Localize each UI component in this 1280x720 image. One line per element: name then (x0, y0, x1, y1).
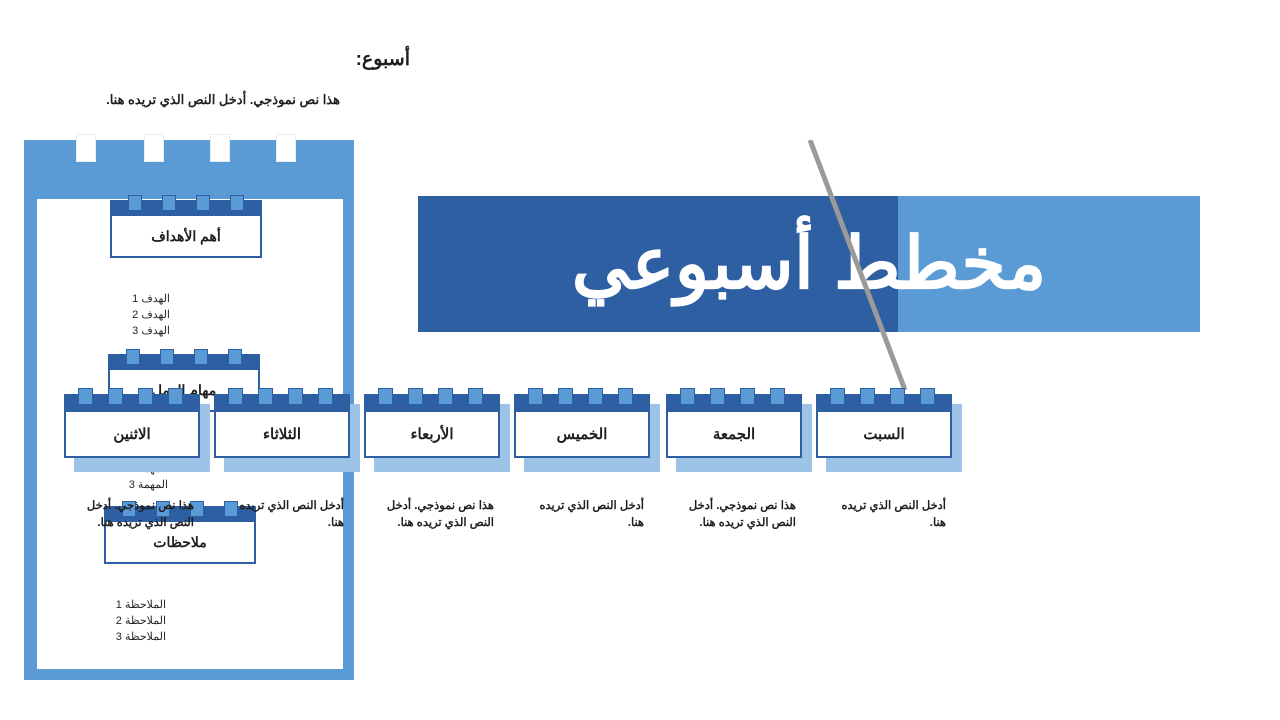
goals-list: الهدف 1 الهدف 2 الهدف 3 (60, 292, 170, 340)
ring-tab-icon (168, 388, 183, 405)
day-text-friday: هذا نص نموذجي. أدخل النص الذي تريده هنا. (676, 498, 796, 533)
list-item: الملاحظة 2 (50, 614, 166, 630)
ring-tab-icon (408, 388, 423, 405)
day-card-monday[interactable]: الاثنين (64, 394, 200, 458)
ring-tab-icon (710, 388, 725, 405)
ring-tab-icon (230, 195, 244, 211)
ring-tab-icon (196, 195, 210, 211)
week-label: أسبوع: (150, 48, 410, 71)
section-title: أهم الأهداف (110, 216, 262, 258)
ring-tab-icon (288, 388, 303, 405)
day-card-wednesday[interactable]: الأربعاء (364, 394, 500, 458)
list-item: الهدف 2 (60, 308, 170, 324)
day-text-saturday: أدخل النص الذي تريده هنا. (826, 498, 946, 533)
ring-tab-icon (890, 388, 905, 405)
notepad-ring (144, 134, 164, 162)
card-binding (64, 394, 200, 412)
ring-tab-icon (128, 195, 142, 211)
ring-tab-icon (228, 349, 242, 365)
card-binding (364, 394, 500, 412)
ring-tab-icon (108, 388, 123, 405)
ring-tab-icon (228, 388, 243, 405)
ring-tab-icon (160, 349, 174, 365)
card-binding (514, 394, 650, 412)
card-binding (816, 394, 952, 412)
card-binding (108, 354, 260, 370)
ring-tab-icon (770, 388, 785, 405)
ring-tab-icon (618, 388, 633, 405)
page-title: مخطط أسبوعي (418, 196, 1200, 332)
day-text-thursday: أدخل النص الذي تريده هنا. (524, 498, 644, 533)
day-name: الجمعة (666, 412, 802, 458)
list-item: الهدف 3 (60, 324, 170, 340)
day-card-tuesday[interactable]: الثلاثاء (214, 394, 350, 458)
ring-tab-icon (162, 195, 176, 211)
ring-tab-icon (830, 388, 845, 405)
day-card-thursday[interactable]: الخميس (514, 394, 650, 458)
day-name: الثلاثاء (214, 412, 350, 458)
ring-tab-icon (740, 388, 755, 405)
day-text-tuesday: أدخل النص الذي تريده هنا. (224, 498, 344, 533)
day-name: السبت (816, 412, 952, 458)
notes-list: الملاحظة 1 الملاحظة 2 الملاحظة 3 (50, 598, 166, 646)
list-item: الملاحظة 1 (50, 598, 166, 614)
slide-canvas: أسبوع: هذا نص نموذجي. أدخل النص الذي تري… (0, 0, 1280, 720)
ring-tab-icon (258, 388, 273, 405)
day-name: الاثنين (64, 412, 200, 458)
card-binding (214, 394, 350, 412)
ring-tab-icon (588, 388, 603, 405)
day-text-wednesday: هذا نص نموذجي. أدخل النص الذي تريده هنا. (374, 498, 494, 533)
ring-tab-icon (138, 388, 153, 405)
day-text-monday: هذا نص نموذجي. أدخل النص الذي تريده هنا. (74, 498, 194, 533)
notepad-section-goals[interactable]: أهم الأهداف (110, 200, 262, 258)
list-item: المهمة 3 (58, 478, 168, 494)
ring-tab-icon (126, 349, 140, 365)
ring-tab-icon (378, 388, 393, 405)
ring-tab-icon (318, 388, 333, 405)
notepad-ring (210, 134, 230, 162)
card-binding (110, 200, 262, 216)
week-subtitle: هذا نص نموذجي. أدخل النص الذي تريده هنا. (40, 92, 340, 109)
ring-tab-icon (680, 388, 695, 405)
ring-tab-icon (438, 388, 453, 405)
ring-tab-icon (860, 388, 875, 405)
ring-tab-icon (468, 388, 483, 405)
day-name: الخميس (514, 412, 650, 458)
ring-tab-icon (920, 388, 935, 405)
ring-tab-icon (78, 388, 93, 405)
list-item: الهدف 1 (60, 292, 170, 308)
ring-tab-icon (528, 388, 543, 405)
notepad-ring (76, 134, 96, 162)
ring-tab-icon (558, 388, 573, 405)
notepad-ring (276, 134, 296, 162)
day-card-friday[interactable]: الجمعة (666, 394, 802, 458)
day-card-saturday[interactable]: السبت (816, 394, 952, 458)
card-binding (666, 394, 802, 412)
list-item: الملاحظة 3 (50, 630, 166, 646)
day-name: الأربعاء (364, 412, 500, 458)
ring-tab-icon (194, 349, 208, 365)
